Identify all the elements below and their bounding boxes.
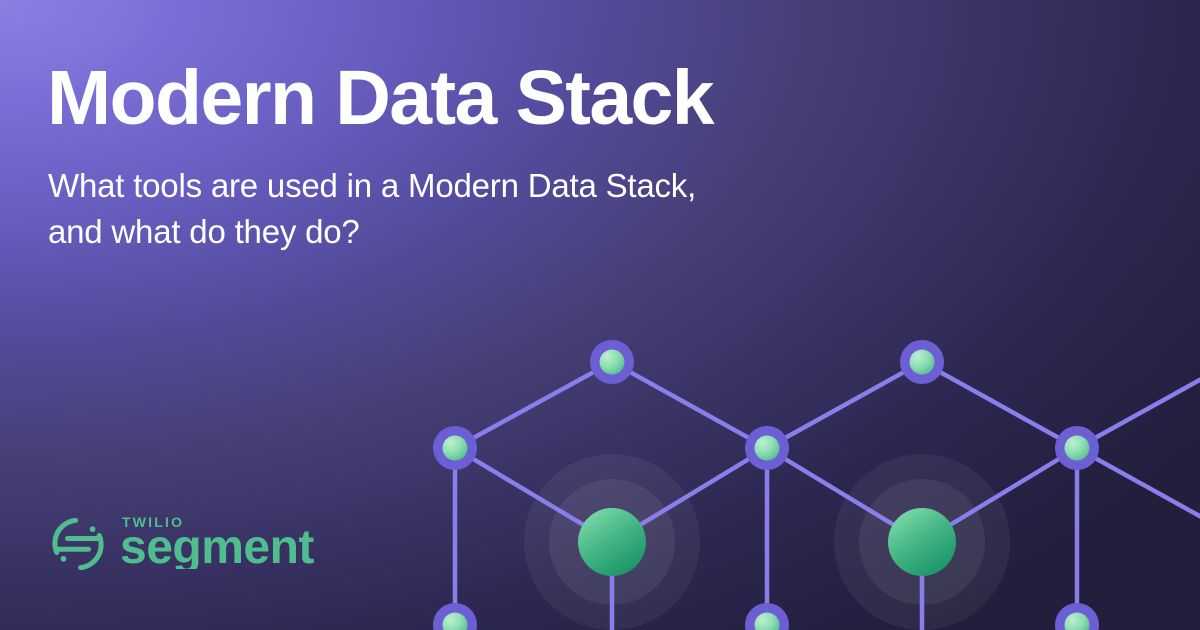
share-card-canvas: Modern Data Stack What tools are used in… [0, 0, 1200, 630]
dashed-edges [285, 200, 922, 448]
hexagonal-node-network [0, 0, 1200, 630]
